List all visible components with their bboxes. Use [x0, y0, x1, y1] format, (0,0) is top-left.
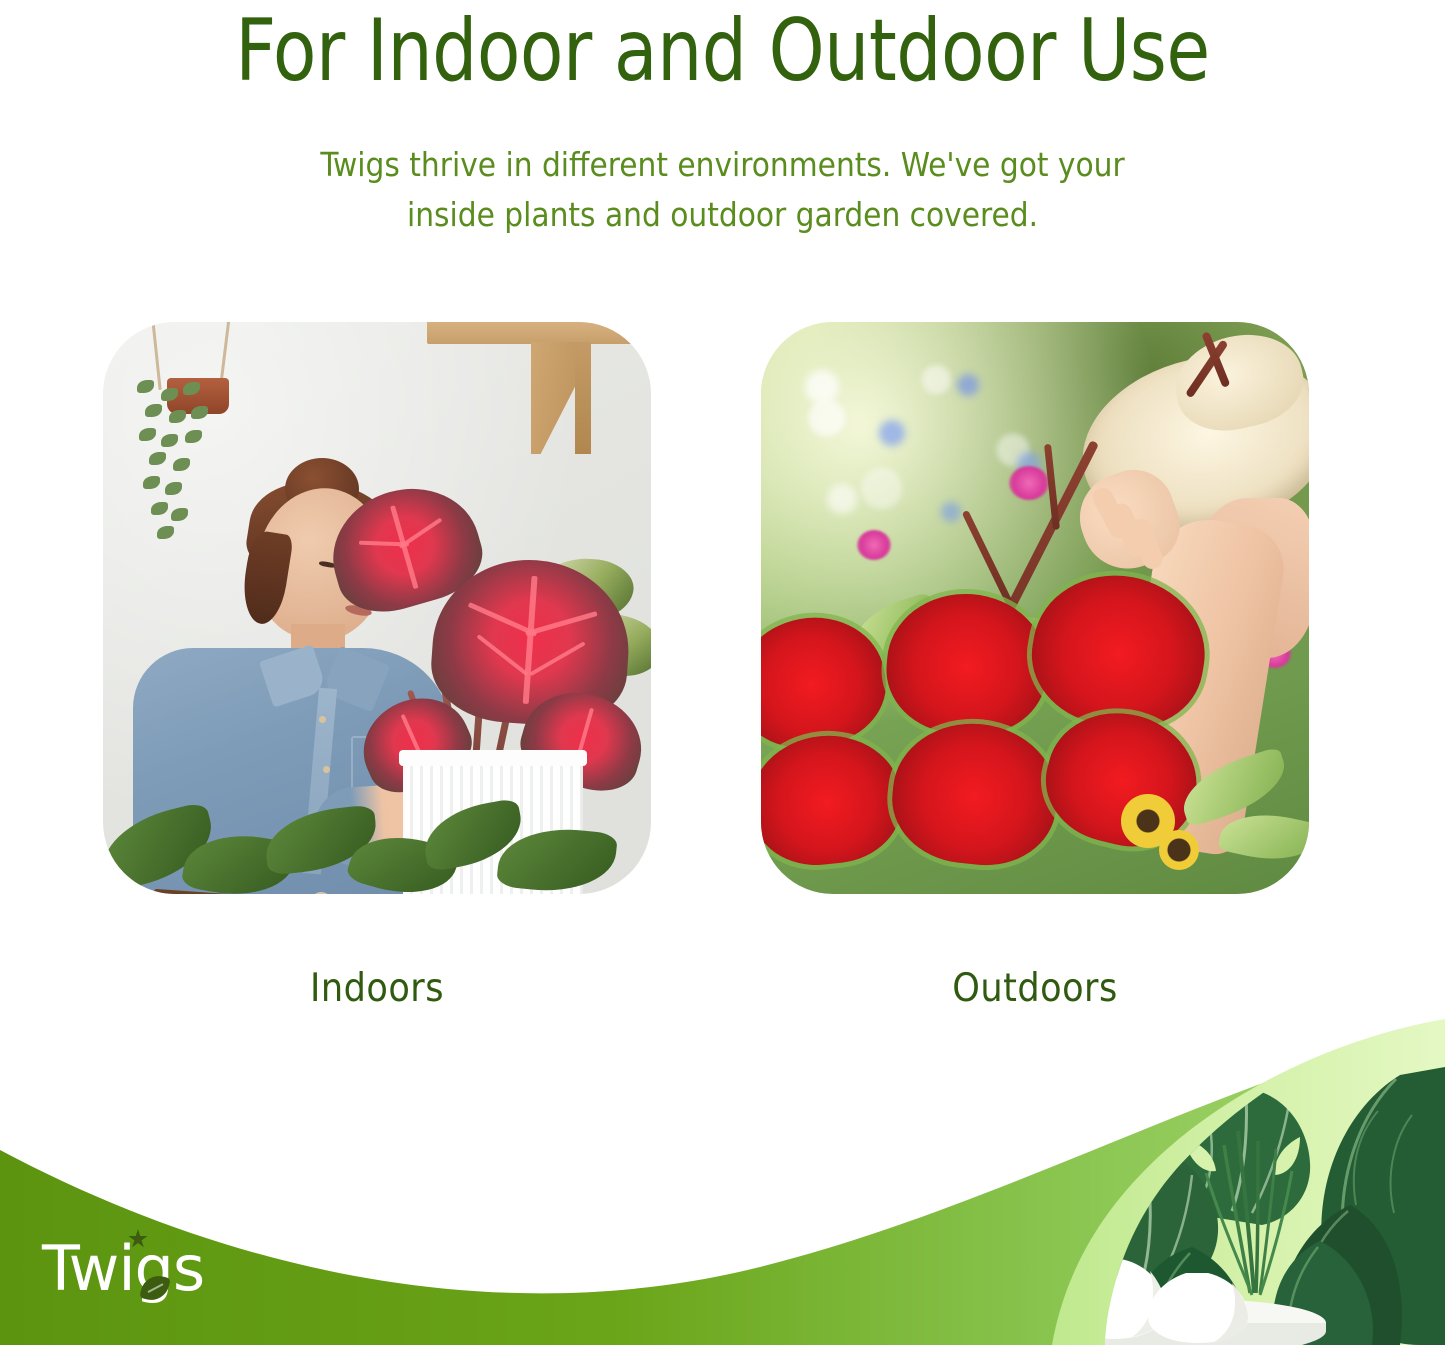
bokeh-highlight [957, 374, 979, 396]
pink-flower [857, 530, 891, 560]
card-image-indoors [103, 322, 651, 894]
pot-rim [399, 750, 587, 766]
outdoor-photo [761, 322, 1309, 894]
red-flower [886, 716, 1064, 872]
shirt-button [323, 766, 330, 773]
brand-logo[interactable]: Twigs [42, 1223, 302, 1315]
pink-flower [1009, 466, 1049, 500]
shelf-bracket-post [575, 342, 591, 454]
foreground-foliage [103, 792, 513, 894]
caption-outdoors: Outdoors [761, 966, 1309, 1011]
shirt-button [319, 716, 326, 723]
sunflower [1159, 830, 1199, 870]
feature-cards: Indoors Outdoors [0, 0, 1445, 1020]
bokeh-highlight [827, 484, 857, 514]
bokeh-highlight [941, 502, 961, 522]
indoor-photo [103, 322, 651, 894]
card-image-outdoors [761, 322, 1309, 894]
bokeh-highlight [805, 370, 839, 404]
bokeh-highlight [879, 420, 905, 446]
brand-name: Twigs [42, 1223, 302, 1315]
red-flower [761, 729, 907, 872]
wall-shelf [427, 322, 637, 344]
caption-indoors: Indoors [103, 966, 651, 1011]
page-footer: Twigs [0, 1015, 1445, 1345]
